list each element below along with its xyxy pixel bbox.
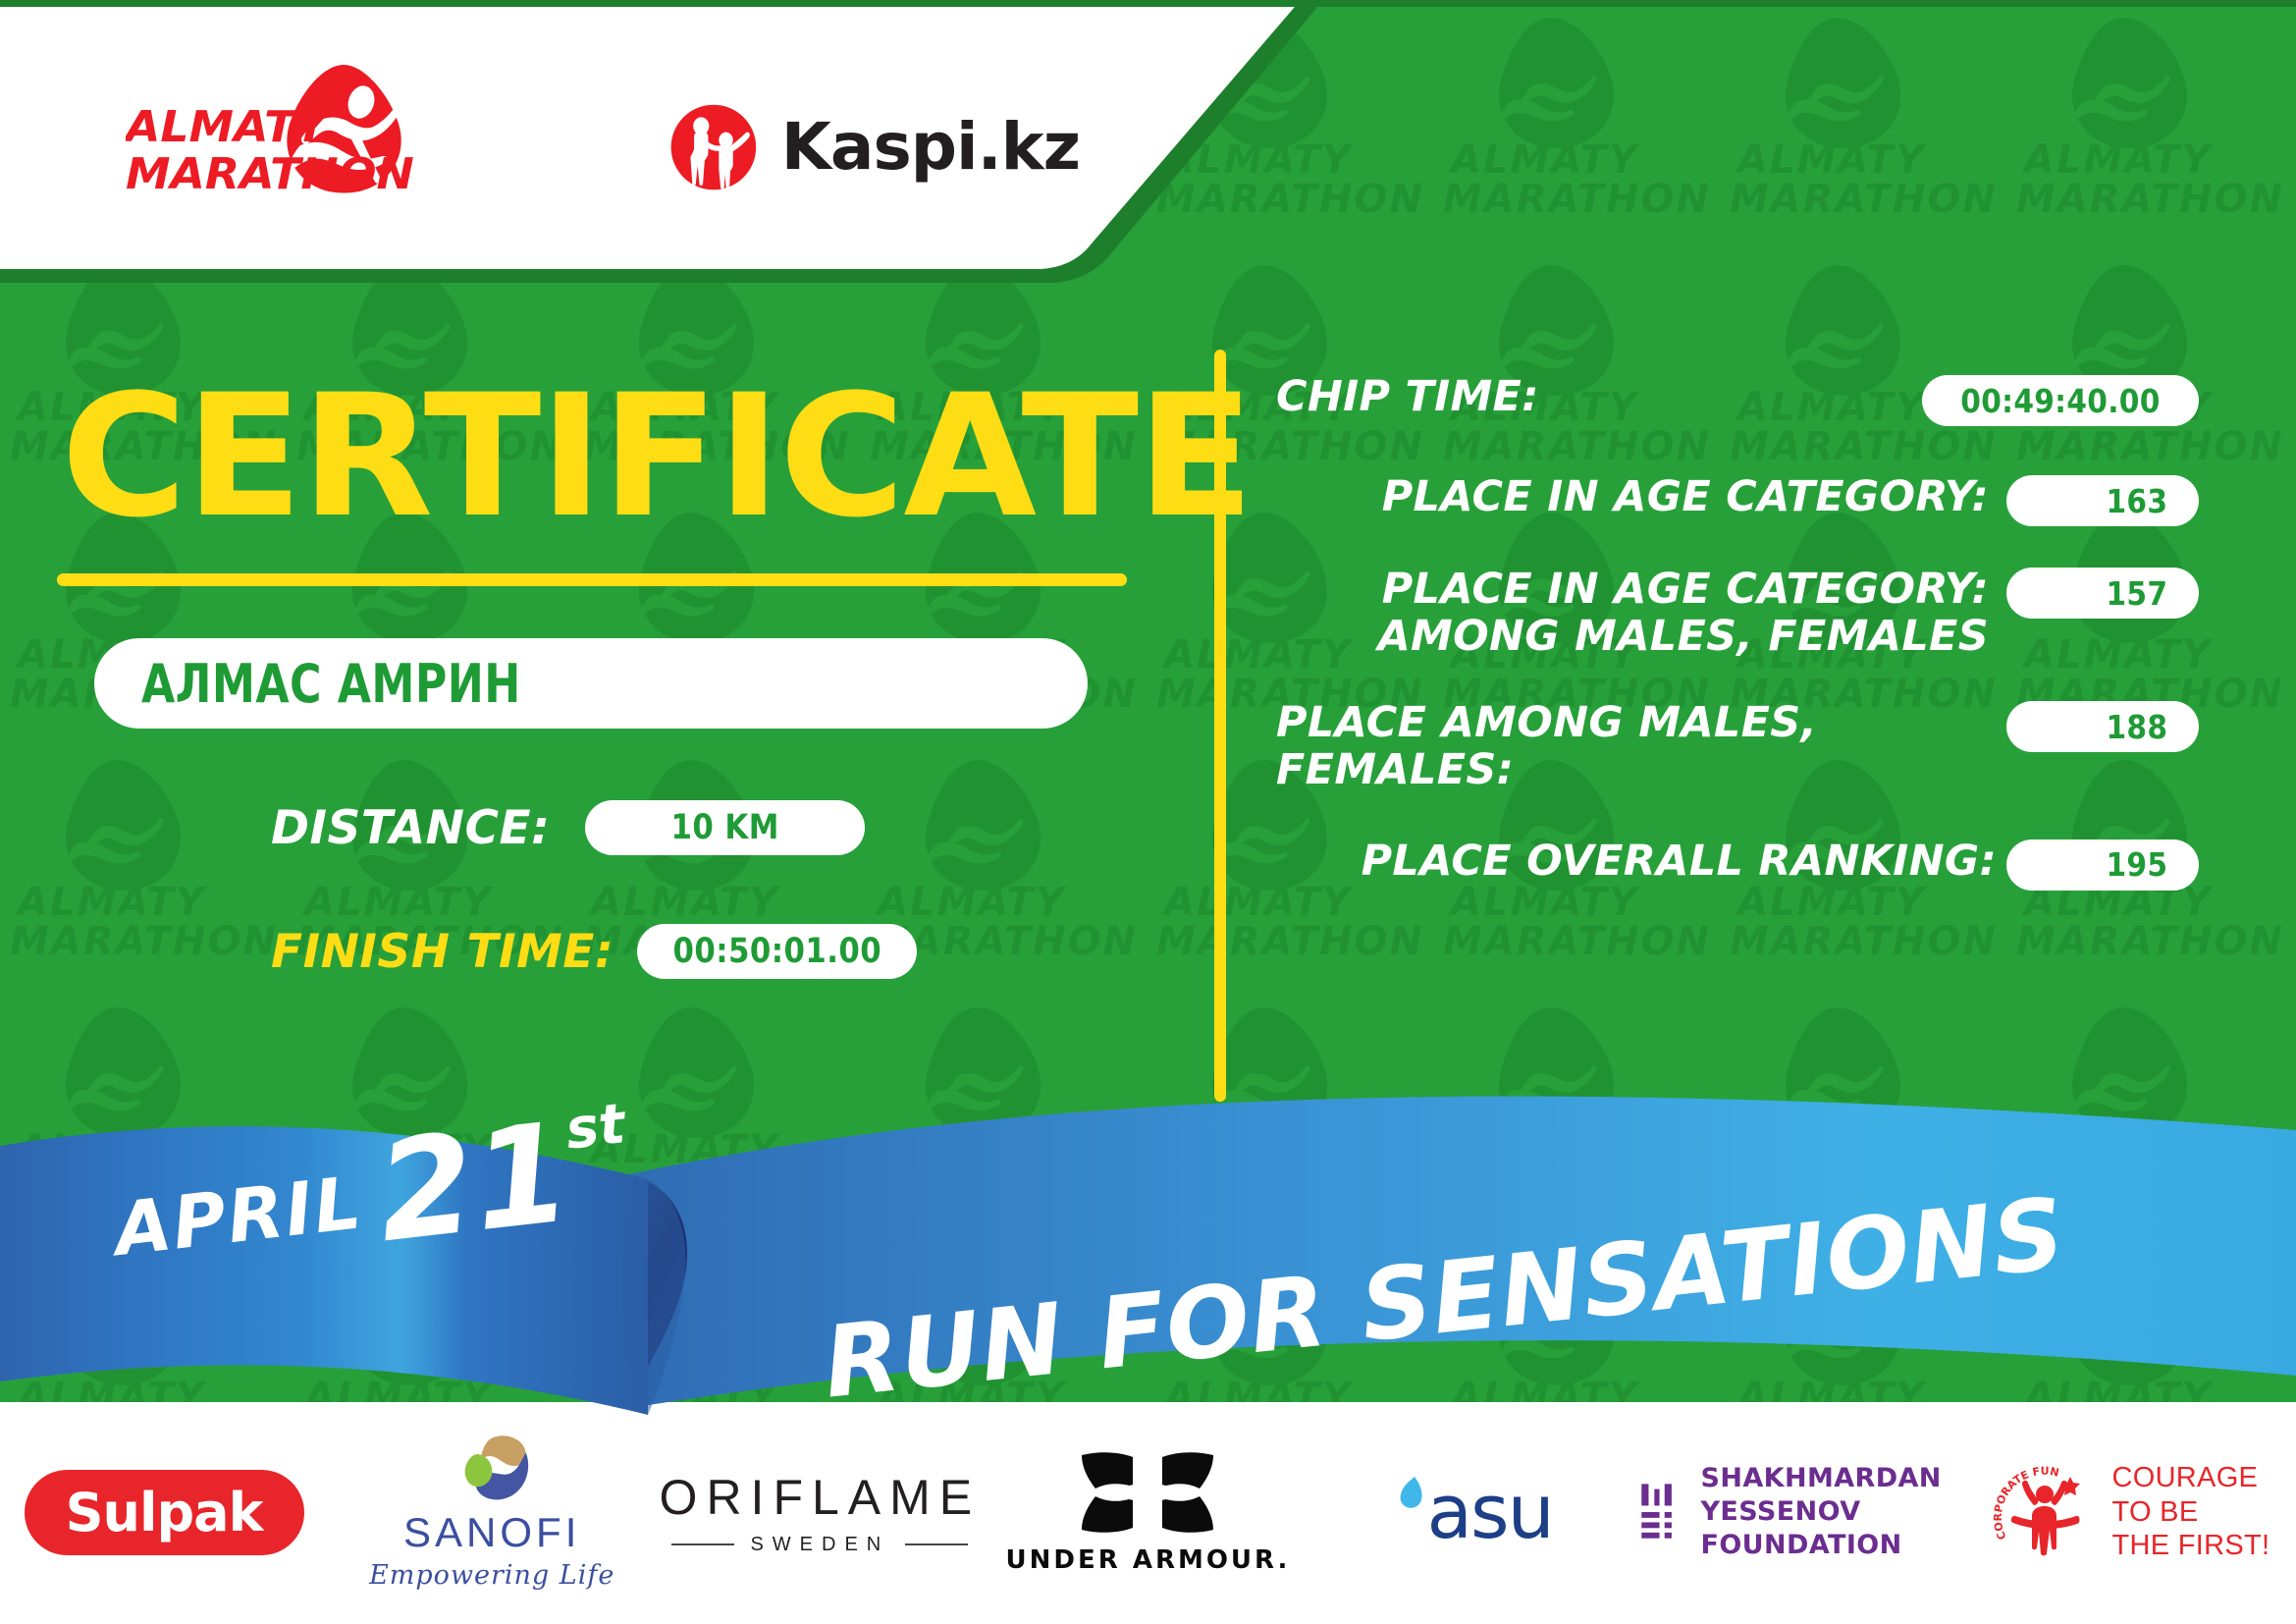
finish-time-label: FINISH TIME:	[271, 925, 614, 979]
label-line-2: AMONG MALES, FEMALES	[1377, 612, 1989, 661]
place-age-category-value-pill: 163	[2006, 475, 2199, 526]
place-among-gender-value: 188	[2107, 708, 2168, 746]
chip-time-value: 00:49:40.00	[1960, 382, 2160, 420]
sponsor-courage-to-be-first: CORPORATE FUND COURAGE TO BE THE FIRST!	[1968, 1434, 2296, 1591]
event-month: APRIL	[110, 1161, 366, 1272]
finish-time-row: FINISH TIME: 00:50:01.00	[271, 921, 917, 982]
label-line-1: PLACE IN AGE CATEGORY:	[1382, 565, 1989, 614]
under-armour-wordmark: UNDER ARMOUR.	[1006, 1545, 1291, 1575]
yessenov-bars-icon	[1640, 1467, 1678, 1557]
vertical-divider	[1214, 350, 1226, 1102]
place-among-gender-value-pill: 188	[2006, 701, 2199, 752]
title-underline	[57, 573, 1127, 586]
distance-value-pill: 10 KM	[585, 800, 865, 855]
results-stats-list: CHIP TIME: 00:49:40.00 PLACE IN AGE CATE…	[1276, 373, 2199, 924]
sulpak-wordmark: Sulpak	[66, 1482, 263, 1543]
sanofi-mark-icon	[439, 1434, 545, 1505]
place-age-category-value: 163	[2107, 482, 2168, 520]
top-accent-strip	[0, 0, 2296, 7]
yessenov-line-1: SHAKHMARDAN YESSENOV	[1700, 1463, 1941, 1527]
place-age-category-gender-row: PLACE IN AGE CATEGORY: AMONG MALES, FEMA…	[1276, 566, 2199, 660]
distance-label: DISTANCE:	[271, 801, 550, 855]
chip-time-label: CHIP TIME:	[1276, 373, 1922, 420]
label-line-1: PLACE AMONG MALES,	[1276, 698, 1817, 747]
asu-droplet-icon	[1393, 1473, 1426, 1518]
place-age-category-label: PLACE IN AGE CATEGORY:	[1276, 473, 2006, 520]
sponsor-yessenov-foundation: SHAKHMARDAN YESSENOV FOUNDATION	[1640, 1434, 1968, 1591]
oriflame-rule-right	[905, 1543, 968, 1545]
label-line-2: FEMALES:	[1276, 745, 1514, 794]
sponsor-asu: asu	[1312, 1434, 1640, 1591]
place-overall-ranking-label: PLACE OVERALL RANKING:	[1276, 838, 2006, 885]
asu-wordmark: asu	[1426, 1475, 1552, 1549]
oriflame-country: SWEDEN	[750, 1534, 889, 1556]
yessenov-wordmark: SHAKHMARDAN YESSENOV FOUNDATION	[1700, 1462, 1967, 1561]
courage-wordmark: COURAGE TO BE THE FIRST!	[2111, 1461, 2269, 1563]
event-day-ordinal: st	[562, 1092, 628, 1162]
finish-time-value-pill: 00:50:01.00	[637, 924, 917, 979]
sanofi-tagline: Empowering Life	[369, 1560, 614, 1591]
event-day: 21	[372, 1111, 576, 1256]
place-age-category-gender-label: PLACE IN AGE CATEGORY: AMONG MALES, FEMA…	[1276, 566, 2006, 660]
place-overall-ranking-row: PLACE OVERALL RANKING: 195	[1276, 838, 2199, 891]
under-armour-icon	[1074, 1449, 1221, 1536]
distance-row: DISTANCE: 10 KM	[271, 797, 865, 858]
place-among-gender-row: PLACE AMONG MALES, FEMALES: 188	[1276, 699, 2199, 793]
almaty-marathon-logo: ALMATY MARATHON	[126, 61, 440, 198]
place-overall-ranking-value: 195	[2107, 845, 2168, 884]
oriflame-subline: SWEDEN	[671, 1534, 968, 1556]
kaspi-logo: Kaspi.kz	[667, 93, 1080, 201]
sponsor-logo-row: Sulpak SANOFI Empowering Life ORIFLAME S…	[0, 1419, 2296, 1605]
courage-line-2: TO BE	[2111, 1496, 2198, 1528]
kaspi-people-icon	[667, 96, 760, 198]
sponsor-sanofi: SANOFI Empowering Life	[328, 1434, 656, 1591]
sponsor-oriflame: ORIFLAME SWEDEN	[656, 1434, 984, 1591]
page-title: CERTIFICATE	[61, 375, 1253, 537]
participant-name-field: АЛМАС АМРИН	[94, 638, 1088, 729]
courage-line-3: THE FIRST!	[2111, 1530, 2269, 1561]
place-among-gender-label: PLACE AMONG MALES, FEMALES:	[1276, 699, 2006, 793]
participant-name: АЛМАС АМРИН	[141, 653, 521, 715]
oriflame-wordmark: ORIFLAME	[660, 1469, 982, 1526]
almaty-logo-line2: MARATHON	[126, 148, 414, 198]
chip-time-row: CHIP TIME: 00:49:40.00	[1276, 373, 2199, 426]
sulpak-logo-pill: Sulpak	[25, 1470, 304, 1555]
sponsor-under-armour: UNDER ARMOUR.	[984, 1434, 1311, 1591]
yessenov-line-2: FOUNDATION	[1700, 1530, 1901, 1560]
place-age-category-row: PLACE IN AGE CATEGORY: 163	[1276, 473, 2199, 526]
place-age-category-gender-value-pill: 157	[2006, 568, 2199, 619]
kaspi-wordmark: Kaspi.kz	[781, 115, 1080, 180]
sanofi-wordmark: SANOFI	[403, 1509, 580, 1556]
chip-time-value-pill: 00:49:40.00	[1922, 375, 2199, 426]
courage-runner-icon: CORPORATE FUND	[1994, 1461, 2096, 1563]
distance-value: 10 KM	[671, 808, 779, 847]
finish-time-value: 00:50:01.00	[672, 932, 881, 971]
oriflame-rule-left	[671, 1543, 734, 1545]
place-overall-ranking-value-pill: 195	[2006, 839, 2199, 891]
sponsor-sulpak: Sulpak	[0, 1434, 328, 1591]
place-age-category-gender-value: 157	[2107, 574, 2168, 613]
almaty-logo-line1: ALMATY	[126, 101, 332, 152]
courage-line-1: COURAGE	[2111, 1462, 2258, 1493]
